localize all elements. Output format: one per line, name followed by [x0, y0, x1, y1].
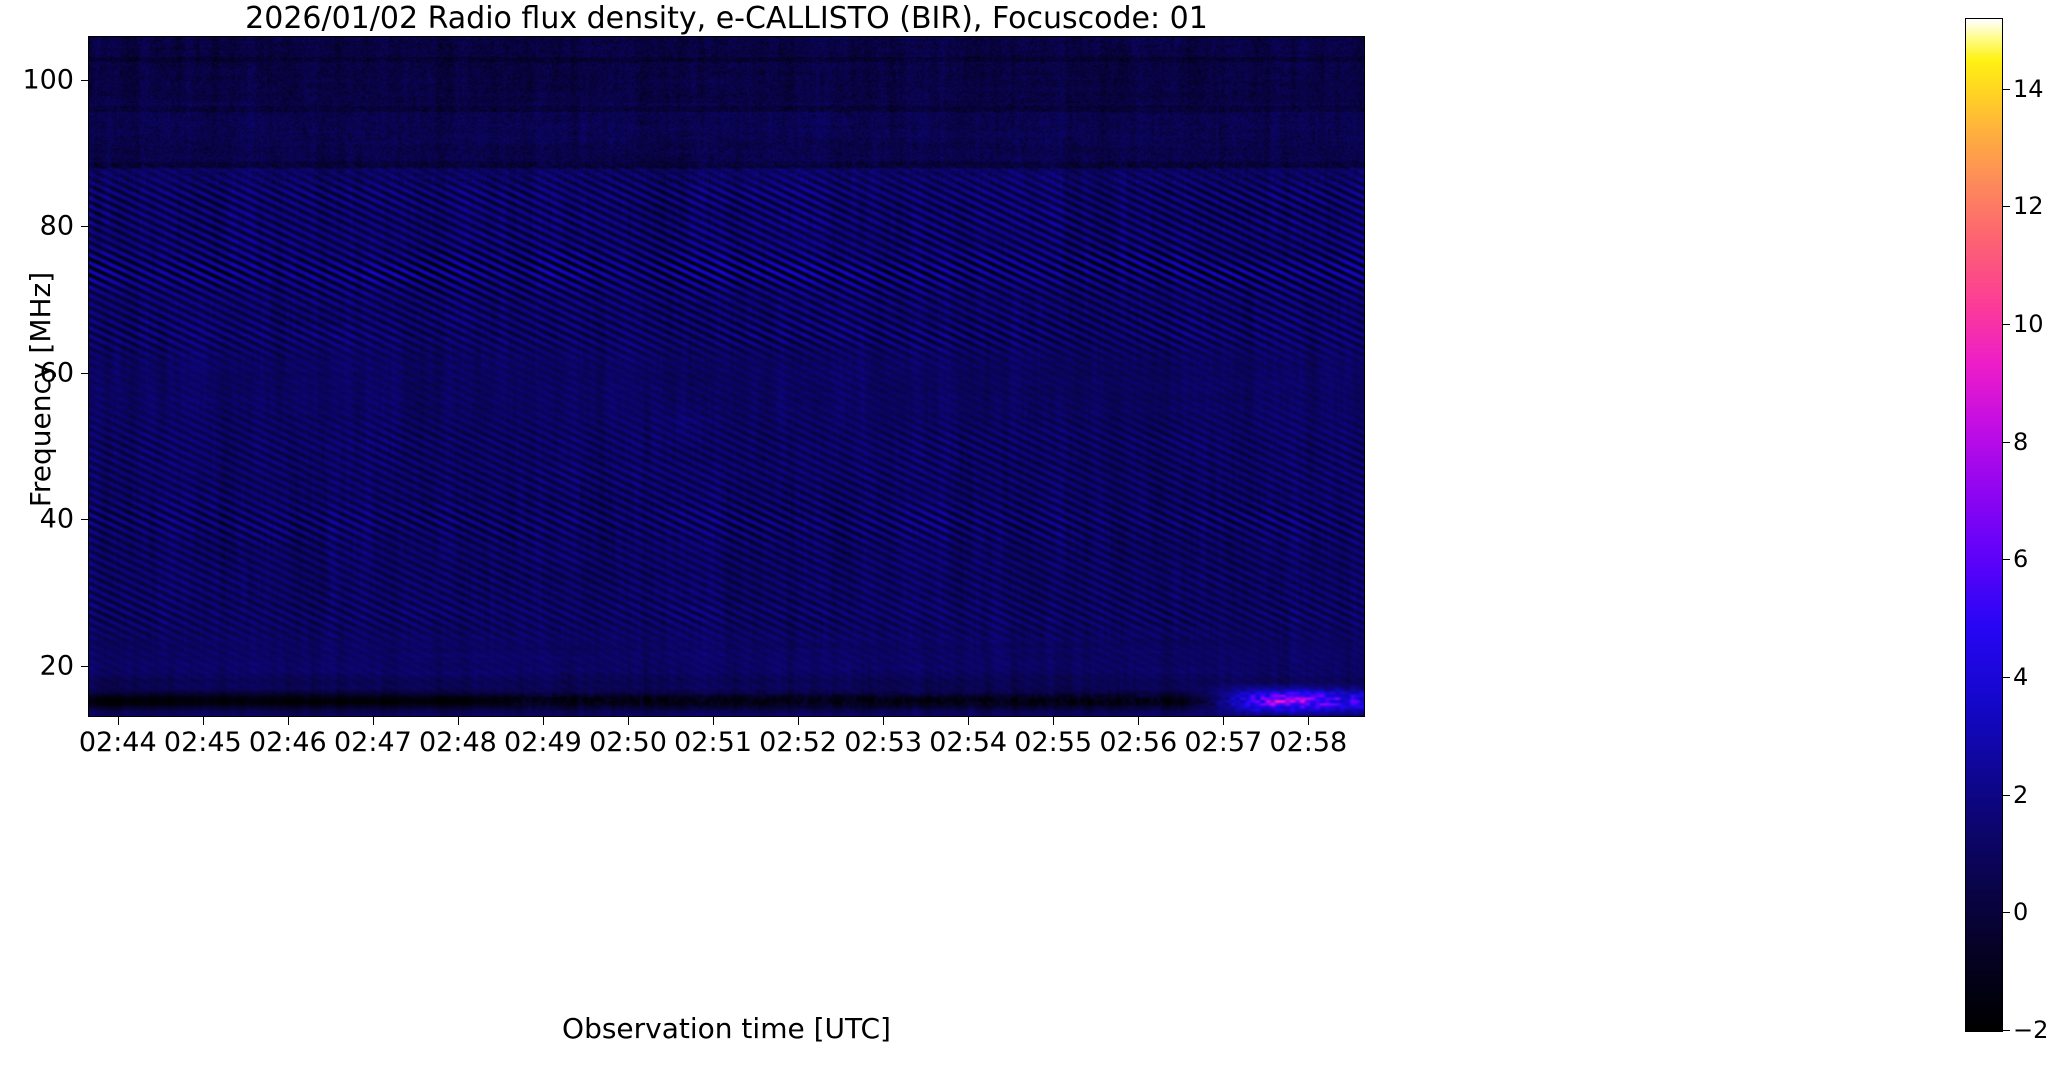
colorbar-tick-mark: [2003, 1030, 2010, 1031]
colorbar[interactable]: [1965, 18, 2003, 1032]
x-tick-mark: [883, 717, 884, 725]
x-tick-label: 02:48: [419, 727, 497, 758]
colorbar-tick-label: 4: [2013, 663, 2028, 691]
x-tick-mark: [798, 717, 799, 725]
x-tick-label: 02:55: [1014, 727, 1092, 758]
colorbar-tick-label: 8: [2013, 428, 2028, 456]
colorbar-tick-mark: [2003, 795, 2010, 796]
x-tick-label: 02:47: [334, 727, 412, 758]
x-tick-mark: [628, 717, 629, 725]
colorbar-tick-mark: [2003, 559, 2010, 560]
x-tick-label: 02:44: [79, 727, 157, 758]
x-tick-label: 02:56: [1099, 727, 1177, 758]
x-tick-mark: [203, 717, 204, 725]
x-tick-mark: [1053, 717, 1054, 725]
x-tick-label: 02:51: [674, 727, 752, 758]
x-tick-mark: [1308, 717, 1309, 725]
colorbar-tick-label: 2: [2013, 781, 2028, 809]
x-tick-mark: [968, 717, 969, 725]
colorbar-tick-mark: [2003, 912, 2010, 913]
x-axis-tick-labels: 02:4402:4502:4602:4702:4802:4902:5002:51…: [88, 727, 1365, 767]
colorbar-tick-mark: [2003, 206, 2010, 207]
colorbar-tick-mark: [2003, 677, 2010, 678]
colorbar-tick-label: 10: [2013, 310, 2044, 338]
y-axis-label: Frequency [MHz]: [24, 49, 57, 730]
colorbar-ticks: [2003, 18, 2013, 1032]
colorbar-tick-mark: [2003, 442, 2010, 443]
x-tick-mark: [458, 717, 459, 725]
y-axis-label-wrap: Frequency [MHz]: [22, 36, 52, 717]
x-tick-mark: [1138, 717, 1139, 725]
colorbar-tick-mark: [2003, 89, 2010, 90]
x-tick-label: 02:57: [1184, 727, 1262, 758]
x-tick-label: 02:49: [504, 727, 582, 758]
spectrogram-axes[interactable]: [88, 36, 1365, 717]
x-axis-label: Observation time [UTC]: [88, 1012, 1365, 1045]
x-tick-mark: [373, 717, 374, 725]
x-tick-mark: [118, 717, 119, 725]
colorbar-tick-label: 14: [2013, 75, 2044, 103]
colorbar-tick-label: 12: [2013, 192, 2044, 220]
spectrogram-pixels: [89, 37, 1364, 716]
x-tick-mark: [1223, 717, 1224, 725]
page-title: 2026/01/02 Radio flux density, e-CALLIST…: [88, 2, 1365, 36]
colorbar-tick-label: 6: [2013, 545, 2028, 573]
colorbar-tick-label: 0: [2013, 898, 2028, 926]
spectrogram-image: [89, 37, 1364, 716]
colorbar-gradient: [1966, 19, 2002, 1031]
x-tick-mark: [713, 717, 714, 725]
figure-canvas: 2026/01/02 Radio flux density, e-CALLIST…: [0, 0, 2066, 1067]
x-tick-label: 02:50: [589, 727, 667, 758]
colorbar-tick-mark: [2003, 324, 2010, 325]
x-tick-label: 02:54: [929, 727, 1007, 758]
x-tick-label: 02:45: [164, 727, 242, 758]
x-tick-label: 02:53: [844, 727, 922, 758]
colorbar-label-wrap: dB above background: [2040, 18, 2066, 1032]
x-tick-mark: [288, 717, 289, 725]
x-tick-label: 02:46: [249, 727, 327, 758]
x-tick-label: 02:52: [759, 727, 837, 758]
x-axis-ticks: [88, 717, 1365, 726]
x-tick-mark: [543, 717, 544, 725]
x-tick-label: 02:58: [1269, 727, 1347, 758]
